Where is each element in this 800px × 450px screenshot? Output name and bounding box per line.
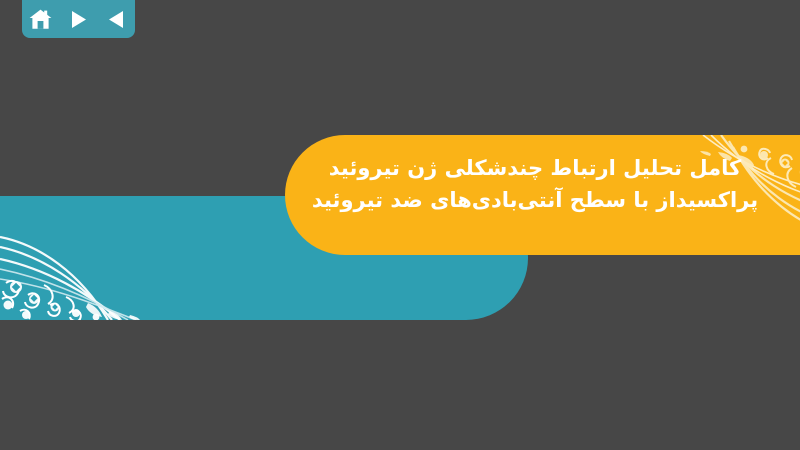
previous-slide-button[interactable] <box>103 7 129 31</box>
slide-navigation-bar <box>22 0 135 38</box>
home-button[interactable] <box>28 7 54 31</box>
arabesque-corner-ornament-teal <box>0 225 215 320</box>
slide-title: کامل تحلیل ارتباط چندشکلی ژن تیروئید پرا… <box>300 152 770 216</box>
next-slide-button[interactable] <box>66 7 92 31</box>
slide-title-line-2: پراکسیداز با سطح آنتی‌بادی‌های ضد تیروئی… <box>300 184 770 216</box>
presentation-slide: کامل تحلیل ارتباط چندشکلی ژن تیروئید پرا… <box>0 0 800 450</box>
triangle-left-icon <box>108 10 125 29</box>
triangle-right-icon <box>70 10 87 29</box>
slide-title-line-1: کامل تحلیل ارتباط چندشکلی ژن تیروئید <box>300 152 770 184</box>
home-icon <box>29 9 52 30</box>
